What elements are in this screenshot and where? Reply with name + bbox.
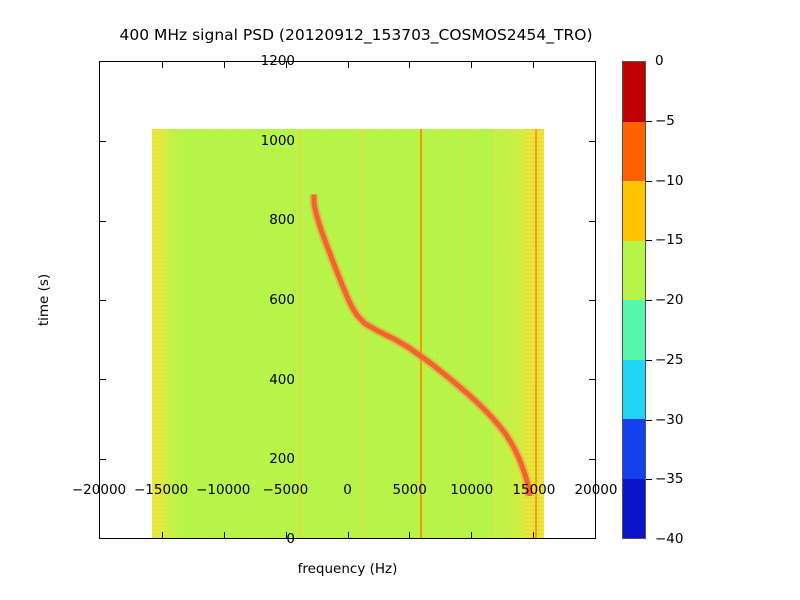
y-axis-title: time (s) bbox=[36, 274, 52, 326]
spectrogram-axes bbox=[99, 61, 596, 539]
figure-canvas: 400 MHz signal PSD (20120912_153703_COSM… bbox=[0, 0, 800, 600]
x-axis-tick bbox=[471, 532, 472, 538]
colorbar-segment bbox=[623, 360, 645, 420]
y-tick-label: 0 bbox=[286, 531, 295, 547]
y-axis-tick bbox=[589, 221, 595, 222]
x-axis-tick bbox=[533, 532, 534, 538]
spectrogram-image bbox=[152, 129, 544, 538]
y-axis-tick bbox=[589, 300, 595, 301]
y-axis-tick bbox=[100, 221, 106, 222]
y-tick-label: 600 bbox=[269, 292, 295, 308]
y-tick-label: 400 bbox=[269, 372, 295, 388]
y-axis-tick bbox=[589, 459, 595, 460]
x-axis-tick bbox=[348, 532, 349, 538]
colorbar-segment bbox=[623, 479, 645, 539]
x-tick-label: 10000 bbox=[450, 482, 493, 498]
colorbar-tick-label: −40 bbox=[655, 531, 684, 547]
x-tick-label: −20000 bbox=[72, 482, 126, 498]
x-axis-tick bbox=[162, 62, 163, 68]
colorbar-tick bbox=[646, 181, 652, 182]
x-tick-label: 5000 bbox=[392, 482, 426, 498]
y-tick-label: 200 bbox=[269, 451, 295, 467]
colorbar-segment bbox=[623, 419, 645, 479]
y-axis-tick bbox=[100, 141, 106, 142]
x-axis-tick bbox=[348, 62, 349, 68]
colorbar-tick bbox=[646, 121, 652, 122]
colorbar-tick-label: −15 bbox=[655, 232, 684, 248]
x-axis-tick bbox=[224, 62, 225, 68]
plot-clip bbox=[100, 62, 595, 538]
x-tick-label: −10000 bbox=[196, 482, 250, 498]
x-axis-tick bbox=[533, 62, 534, 68]
colorbar-tick bbox=[646, 479, 652, 480]
y-tick-label: 1000 bbox=[261, 133, 295, 149]
y-tick-label: 1200 bbox=[261, 53, 295, 69]
x-tick-label: −5000 bbox=[263, 482, 309, 498]
y-tick-label: 800 bbox=[269, 212, 295, 228]
colorbar-tick-label: −5 bbox=[655, 113, 675, 129]
colorbar-tick-label: −35 bbox=[655, 471, 684, 487]
x-tick-label: 0 bbox=[343, 482, 352, 498]
colorbar bbox=[622, 61, 646, 539]
colorbar-tick bbox=[646, 360, 652, 361]
x-axis-tick bbox=[162, 532, 163, 538]
colorbar-segment bbox=[623, 181, 645, 241]
chart-title: 400 MHz signal PSD (20120912_153703_COSM… bbox=[0, 26, 712, 44]
colorbar-tick-label: −25 bbox=[655, 352, 684, 368]
colorbar-segment bbox=[623, 62, 645, 122]
colorbar-tick-label: −10 bbox=[655, 173, 684, 189]
colorbar-tick-label: −30 bbox=[655, 412, 684, 428]
colorbar-segment bbox=[623, 241, 645, 301]
y-axis-tick bbox=[589, 379, 595, 380]
colorbar-tick bbox=[646, 420, 652, 421]
x-axis-tick bbox=[409, 532, 410, 538]
doppler-track bbox=[152, 129, 544, 538]
colorbar-tick-label: −20 bbox=[655, 292, 684, 308]
x-axis-tick bbox=[409, 62, 410, 68]
x-tick-label: 15000 bbox=[512, 482, 555, 498]
colorbar-segment bbox=[623, 122, 645, 182]
colorbar-segment bbox=[623, 300, 645, 360]
x-axis-tick bbox=[471, 62, 472, 68]
y-axis-tick bbox=[589, 141, 595, 142]
y-axis-tick bbox=[100, 379, 106, 380]
x-tick-label: −15000 bbox=[134, 482, 188, 498]
y-axis-tick bbox=[100, 459, 106, 460]
colorbar-tick bbox=[646, 240, 652, 241]
y-axis-tick bbox=[100, 300, 106, 301]
x-axis-tick bbox=[224, 532, 225, 538]
colorbar-tick bbox=[646, 300, 652, 301]
colorbar-tick-label: 0 bbox=[655, 53, 664, 69]
x-tick-label: 20000 bbox=[575, 482, 618, 498]
x-axis-title: frequency (Hz) bbox=[99, 561, 596, 577]
